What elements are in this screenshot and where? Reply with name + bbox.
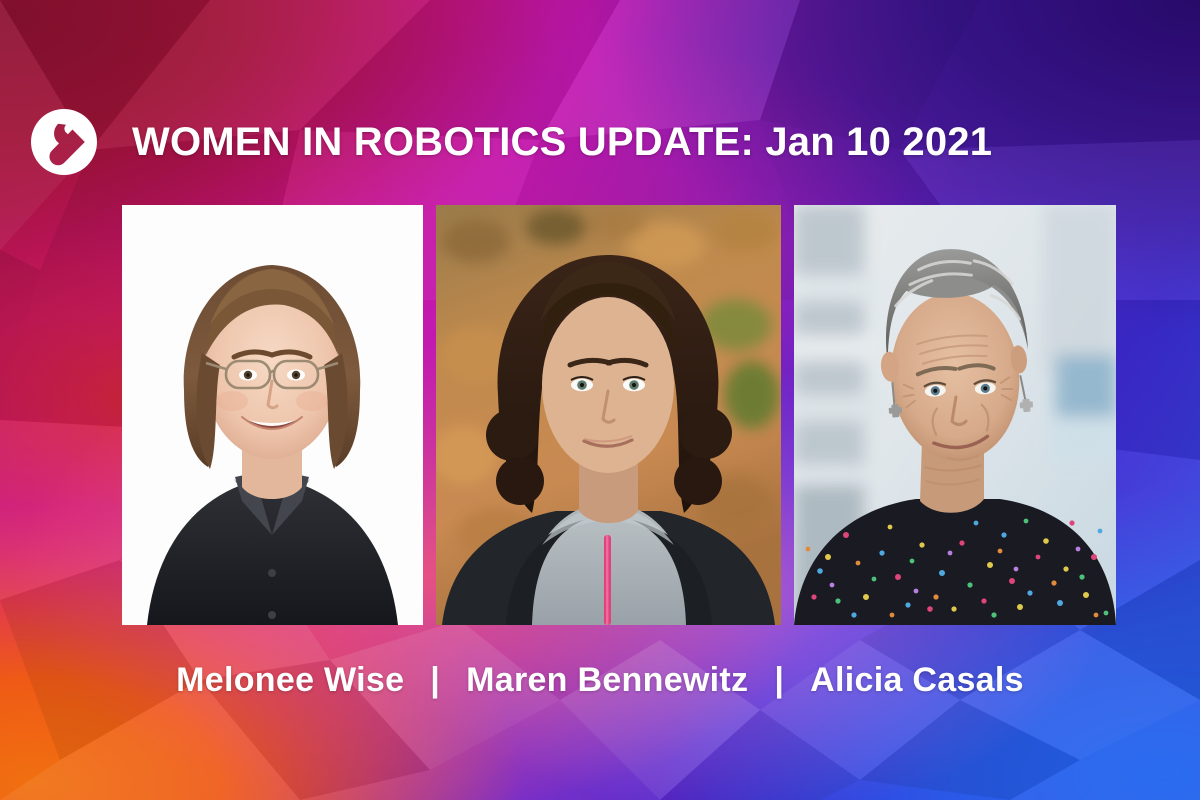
- portrait-photo-melonee-wise: [122, 205, 423, 625]
- presenter-name-3: Alicia Casals: [810, 661, 1024, 700]
- banner-header: WOMEN IN ROBOTICS UPDATE: Jan 10 2021: [0, 96, 1200, 188]
- portrait-photo-maren-bennewitz: [436, 205, 781, 625]
- title-date-text: Jan 10 2021: [754, 120, 992, 164]
- presenter-name-1: Melonee Wise: [176, 661, 404, 700]
- robohub-wrench-circle-icon: [28, 106, 100, 178]
- name-separator-1: |: [404, 661, 466, 700]
- presenter-name-2: Maren Bennewitz: [466, 661, 748, 700]
- women-in-robotics-banner: WOMEN IN ROBOTICS UPDATE: Jan 10 2021: [0, 0, 1200, 800]
- name-separator-2: |: [748, 661, 810, 700]
- title-main-text: WOMEN IN ROBOTICS UPDATE:: [132, 120, 754, 164]
- portrait-photo-alicia-casals: [794, 205, 1116, 625]
- page-title: WOMEN IN ROBOTICS UPDATE: Jan 10 2021: [132, 122, 992, 162]
- presenter-names-row: Melonee Wise | Maren Bennewitz | Alicia …: [0, 652, 1200, 708]
- portrait-strip: [122, 205, 1116, 625]
